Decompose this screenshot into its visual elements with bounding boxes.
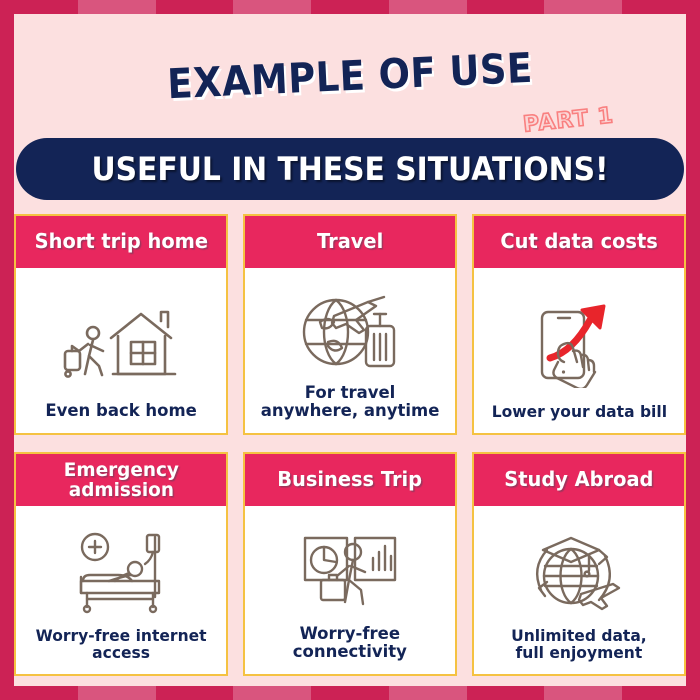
poster-content: EXAMPLE OF USE PART 1 USEFUL IN THESE SI… (14, 14, 686, 686)
card-caption: For travelanywhere, anytime (259, 384, 441, 421)
card-header: Travel (245, 216, 455, 268)
card-title: Cut data costs (500, 231, 657, 252)
card-study-abroad[interactable]: Study Abroad (472, 452, 686, 676)
card-business-trip[interactable]: Business Trip (243, 452, 457, 676)
stripe-segment (389, 686, 467, 700)
stripe-segment (78, 686, 156, 700)
card-caption: Worry-free internetaccess (34, 627, 209, 662)
page-title: EXAMPLE OF USE (13, 37, 686, 115)
card-title: Business Trip (278, 469, 423, 490)
card-body: Worry-free internetaccess (16, 506, 226, 674)
headline-area: EXAMPLE OF USE PART 1 (14, 48, 686, 136)
stripe-segment (389, 0, 467, 14)
card-caption: Worry-freeconnectivity (291, 625, 409, 662)
top-stripe-band (0, 0, 700, 14)
stripe-segment (233, 0, 311, 14)
card-header: Emergencyadmission (16, 454, 226, 506)
traveler-with-suitcase-and-house-icon (22, 278, 220, 402)
card-caption: Lower your data bill (489, 403, 668, 421)
card-body: Even back home (16, 268, 226, 433)
part-badge: PART 1 (522, 103, 615, 137)
banner: USEFUL IN THESE SITUATIONS! (16, 138, 684, 200)
card-short-trip-home[interactable]: Short trip home (14, 214, 228, 435)
banner-text: USEFUL IN THESE SITUATIONS! (91, 150, 608, 188)
card-body: Lower your data bill (474, 268, 684, 433)
card-grid: Short trip home (14, 214, 686, 676)
card-title: Study Abroad (504, 469, 653, 490)
stripe-segment (467, 686, 545, 700)
card-body: Worry-freeconnectivity (245, 506, 455, 674)
hospital-bed-patient-icon (22, 516, 220, 627)
globe-graduation-cap-plane-icon (480, 516, 678, 627)
stripe-segment (467, 0, 545, 14)
card-body: Unlimited data,full enjoyment (474, 506, 684, 674)
stripe-segment (156, 0, 234, 14)
card-title: Short trip home (34, 231, 207, 252)
card-title: Travel (317, 231, 383, 252)
card-title: Emergencyadmission (63, 460, 178, 500)
card-header: Business Trip (245, 454, 455, 506)
right-frame-bar (686, 0, 700, 700)
stripe-segment (78, 0, 156, 14)
card-emergency-admission[interactable]: Emergencyadmission (14, 452, 228, 676)
smartphone-hand-tap-rising-arrow-icon (480, 278, 678, 403)
left-frame-bar (0, 0, 14, 700)
globe-plane-luggage-icon (251, 278, 449, 384)
stripe-segment (233, 686, 311, 700)
card-travel[interactable]: Travel (243, 214, 457, 435)
card-header: Cut data costs (474, 216, 684, 268)
card-caption: Unlimited data,full enjoyment (509, 627, 648, 662)
bottom-stripe-band (0, 686, 700, 700)
businessperson-presentation-briefcase-icon (251, 516, 449, 625)
card-body: For travelanywhere, anytime (245, 268, 455, 433)
stripe-segment (544, 686, 622, 700)
stripe-segment (311, 0, 389, 14)
card-header: Study Abroad (474, 454, 684, 506)
card-caption: Even back home (43, 402, 198, 421)
stripe-segment (311, 686, 389, 700)
poster-root: EXAMPLE OF USE PART 1 USEFUL IN THESE SI… (0, 0, 700, 700)
stripe-segment (156, 686, 234, 700)
card-header: Short trip home (16, 216, 226, 268)
stripe-segment (544, 0, 622, 14)
card-cut-data-costs[interactable]: Cut data costs (472, 214, 686, 435)
